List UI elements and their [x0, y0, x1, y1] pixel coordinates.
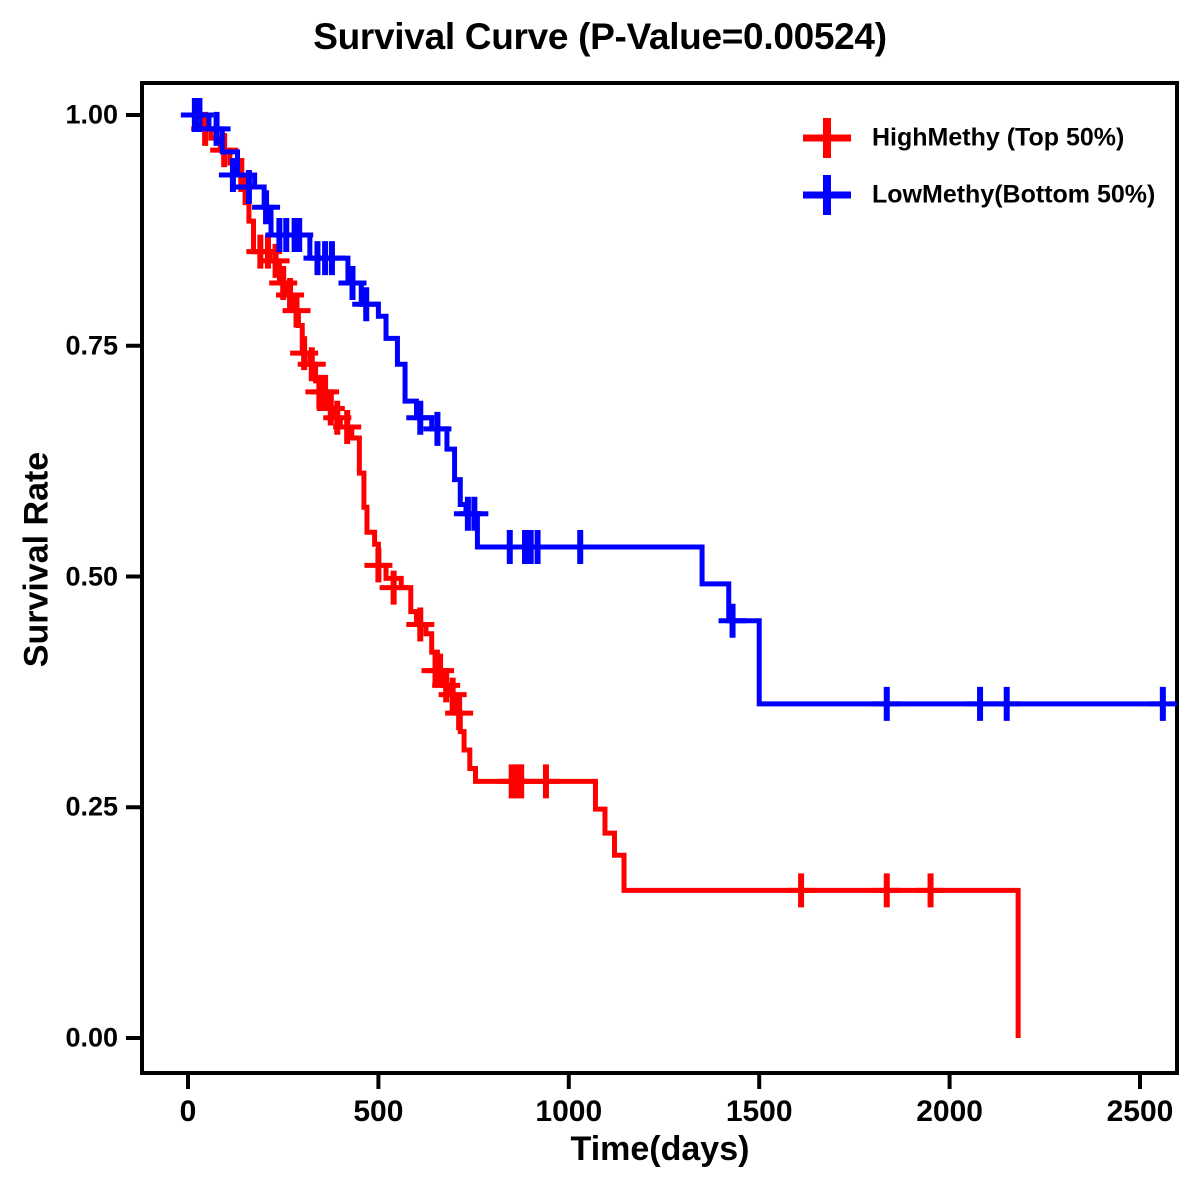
censor-tick-marker: [787, 873, 815, 907]
censor-tick-marker: [873, 873, 901, 907]
censor-tick-marker: [1149, 687, 1177, 721]
survival-step-line: [188, 115, 1018, 1038]
legend-marker-high-methy: [803, 118, 851, 158]
censor-tick-marker: [966, 687, 994, 721]
x-tick-label: 2500: [1070, 1095, 1200, 1129]
censor-tick-marker: [532, 764, 560, 798]
censor-tick-marker: [873, 687, 901, 721]
censor-tick-marker: [993, 687, 1021, 721]
y-tick-label: 0.00: [0, 1023, 118, 1054]
x-tick-label: 2000: [880, 1095, 1020, 1129]
censor-tick-marker: [252, 190, 280, 224]
x-tick-label: 1000: [499, 1095, 639, 1129]
series-layer: [181, 98, 1177, 1038]
censor-tick-marker: [719, 604, 747, 638]
y-tick-label: 0.75: [0, 330, 118, 361]
y-tick-label: 0.50: [0, 561, 118, 592]
survival-curve-figure: Survival Curve (P-Value=0.00524) Surviva…: [0, 0, 1200, 1200]
censor-tick-marker: [283, 294, 311, 328]
legend-marker-low-methy: [803, 175, 851, 215]
x-tick-label: 1500: [689, 1095, 829, 1129]
x-tick-label: 500: [308, 1095, 448, 1129]
censor-tick-marker: [460, 497, 488, 531]
y-tick-label: 1.00: [0, 100, 118, 131]
legend-markers: [803, 118, 851, 215]
legend-label-low-methy: LowMethy(Bottom 50%): [872, 181, 1155, 210]
censor-tick-marker: [566, 530, 594, 564]
x-tick-label: 0: [118, 1095, 258, 1129]
censor-tick-marker: [445, 696, 473, 730]
legend-label-high-methy: HighMethy (Top 50%): [872, 124, 1124, 153]
y-tick-label: 0.25: [0, 792, 118, 823]
censor-tick-marker: [917, 873, 945, 907]
